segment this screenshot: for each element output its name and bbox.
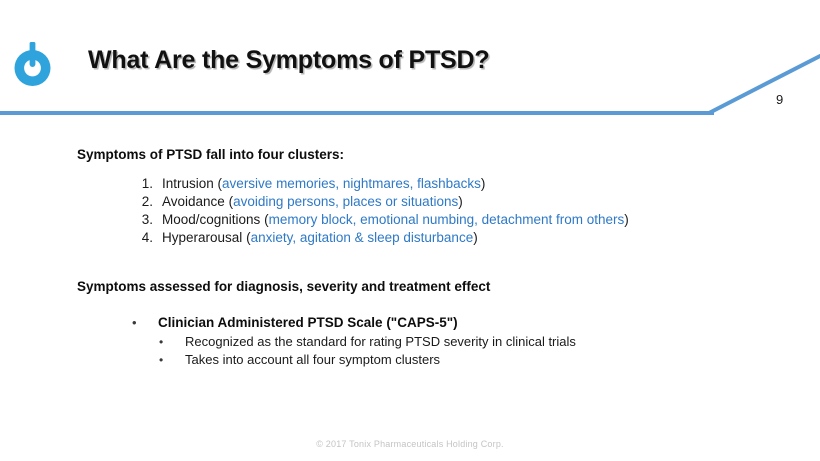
copyright-footer: © 2017 Tonix Pharmaceuticals Holding Cor… [0,439,820,449]
assessment-heading: Symptoms assessed for diagnosis, severit… [77,279,490,294]
power-button-logo-icon [12,39,53,87]
caps-sub-bullet-label: Takes into account all four symptom clus… [185,352,440,367]
list-item: 4.Hyperarousal (anxiety, agitation & sle… [137,229,629,247]
list-item-detail: aversive memories, nightmares, flashback… [222,176,481,191]
paren-close-glyph: ) [458,194,463,209]
list-item: 2.Avoidance (avoiding persons, places or… [137,193,629,211]
bullet-icon: • [132,313,137,333]
caps-title: Clinician Administered PTSD Scale ("CAPS… [158,315,458,330]
list-item: 1.Intrusion (aversive memories, nightmar… [137,175,629,193]
caps-sub-bullet-label: Recognized as the standard for rating PT… [185,334,576,349]
list-item: • Clinician Administered PTSD Scale ("CA… [132,313,576,333]
list-item-detail: avoiding persons, places or situations [233,194,458,209]
paren-close-glyph: ) [481,176,486,191]
slide-body: Symptoms of PTSD fall into four clusters… [0,120,820,430]
list-item-detail: memory block, emotional numbing, detachm… [269,212,625,227]
clusters-heading: Symptoms of PTSD fall into four clusters… [77,147,344,162]
paren-close-glyph: ) [473,230,478,245]
header-divider-angled [700,50,820,120]
page-number: 9 [776,92,783,107]
list-item: • Takes into account all four symptom cl… [159,351,576,369]
slide-header: What Are the Symptoms of PTSD? 9 [0,0,820,120]
list-item: 3.Mood/cognitions (memory block, emotion… [137,211,629,229]
page-title: What Are the Symptoms of PTSD? [88,46,489,75]
list-item-label: Hyperarousal [162,230,242,245]
list-item-label: Avoidance [162,194,225,209]
list-item-label: Mood/cognitions [162,212,260,227]
bullet-icon: • [159,351,163,369]
list-item-number: 1. [137,175,153,193]
list-item-number: 2. [137,193,153,211]
list-item-number: 3. [137,211,153,229]
paren-close-glyph: ) [624,212,629,227]
bullet-icon: • [159,333,163,351]
list-item: • Recognized as the standard for rating … [159,333,576,351]
caps-bullet-block: • Clinician Administered PTSD Scale ("CA… [132,313,576,369]
symptom-cluster-list: 1.Intrusion (aversive memories, nightmar… [137,175,629,247]
list-item-detail: anxiety, agitation & sleep disturbance [251,230,474,245]
list-item-label: Intrusion [162,176,214,191]
list-item-number: 4. [137,229,153,247]
header-divider-horizontal [0,111,714,115]
